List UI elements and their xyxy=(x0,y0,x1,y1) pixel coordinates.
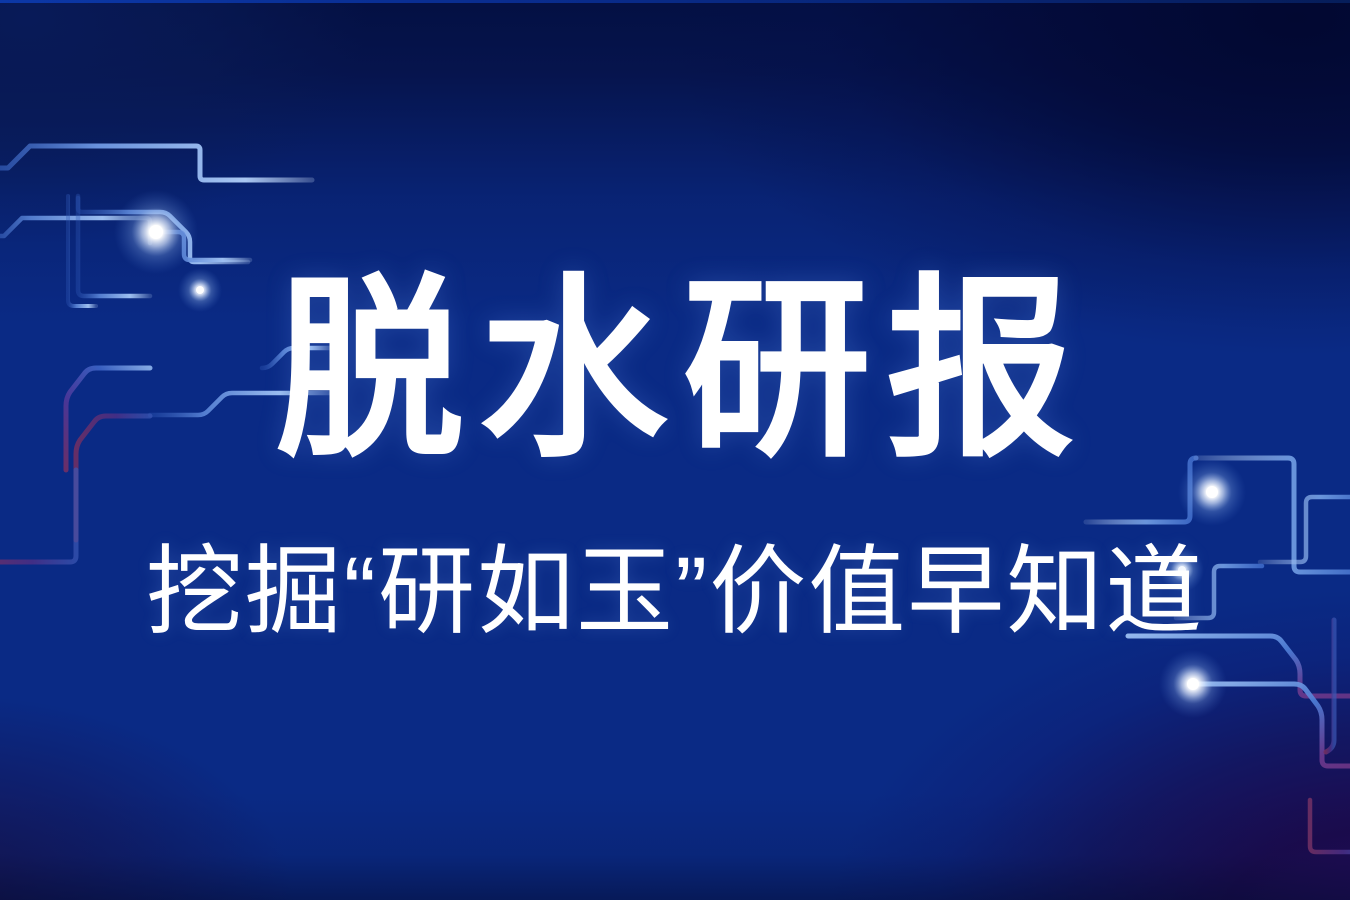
report-banner: 脱水研报 挖掘“研如玉”价值早知道 xyxy=(0,0,1350,900)
background-top-highlight-line xyxy=(0,0,1350,3)
page-title: 脱水研报 xyxy=(27,268,1323,474)
page-subtitle: 挖掘“研如玉”价值早知道 xyxy=(0,536,1350,648)
headline-container: 脱水研报 xyxy=(0,268,1350,474)
subheadline-container: 挖掘“研如玉”价值早知道 xyxy=(0,536,1350,648)
